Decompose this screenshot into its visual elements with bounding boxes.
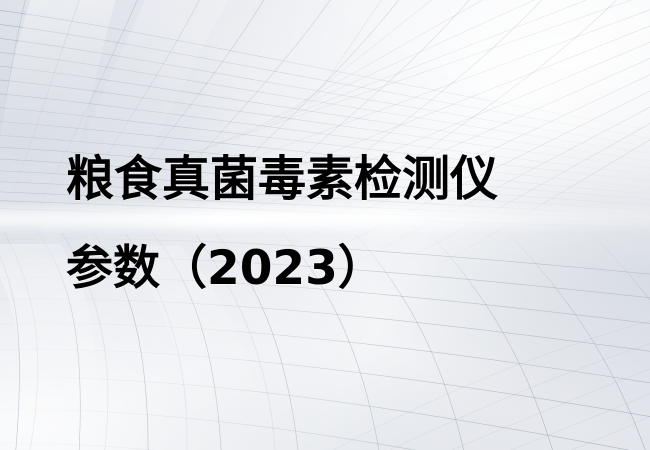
title-line-1: 粮食真菌毒素检测仪 bbox=[66, 134, 626, 224]
title-line-2: 参数（2023） bbox=[66, 224, 626, 314]
page-title: 粮食真菌毒素检测仪 参数（2023） bbox=[66, 134, 626, 314]
title-banner: 粮食真菌毒素检测仪 参数（2023） bbox=[0, 0, 650, 450]
